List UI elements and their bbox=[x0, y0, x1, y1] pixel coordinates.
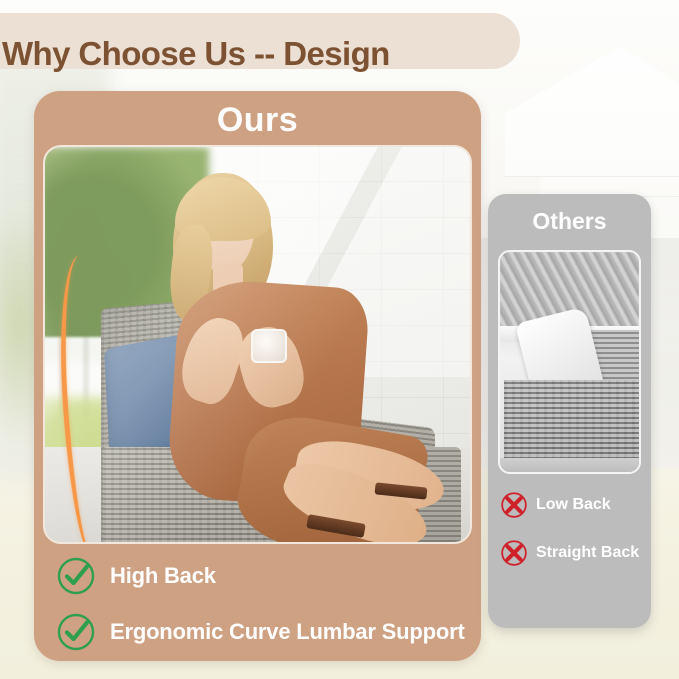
others-feature-label: Straight Back bbox=[536, 544, 639, 562]
list-item: High Back bbox=[56, 551, 466, 601]
others-photo-floor bbox=[500, 458, 639, 472]
background-house-line bbox=[505, 176, 679, 177]
others-panel: Others Low Back bbox=[488, 194, 651, 628]
others-feature-label: Low Back bbox=[536, 496, 611, 514]
ours-feature-list: High Back Ergonomic Curve Lumbar Support bbox=[56, 551, 466, 657]
others-product-photo bbox=[498, 250, 641, 474]
header-banner: Why Choose Us -- Design bbox=[0, 13, 520, 69]
others-chair-body bbox=[504, 380, 641, 464]
drinking-glass bbox=[251, 329, 287, 363]
green-check-circle-icon bbox=[56, 556, 96, 596]
ours-title: Ours bbox=[34, 101, 481, 140]
list-item: Low Back bbox=[500, 486, 650, 524]
list-item: Straight Back bbox=[500, 534, 650, 572]
red-x-circle-icon bbox=[500, 539, 528, 567]
page-title: Why Choose Us -- Design bbox=[2, 26, 502, 82]
others-title: Others bbox=[488, 208, 651, 235]
others-feature-list: Low Back Straight Back bbox=[500, 486, 650, 572]
ours-feature-label: Ergonomic Curve Lumbar Support bbox=[110, 619, 465, 645]
ours-feature-label: High Back bbox=[110, 563, 216, 589]
list-item: Ergonomic Curve Lumbar Support bbox=[56, 607, 466, 657]
promo-graphic: Why Choose Us -- Design Ours bbox=[0, 0, 679, 679]
ours-product-photo bbox=[43, 145, 472, 544]
green-check-circle-icon bbox=[56, 612, 96, 652]
red-x-circle-icon bbox=[500, 491, 528, 519]
ours-panel: Ours bbox=[34, 91, 481, 661]
